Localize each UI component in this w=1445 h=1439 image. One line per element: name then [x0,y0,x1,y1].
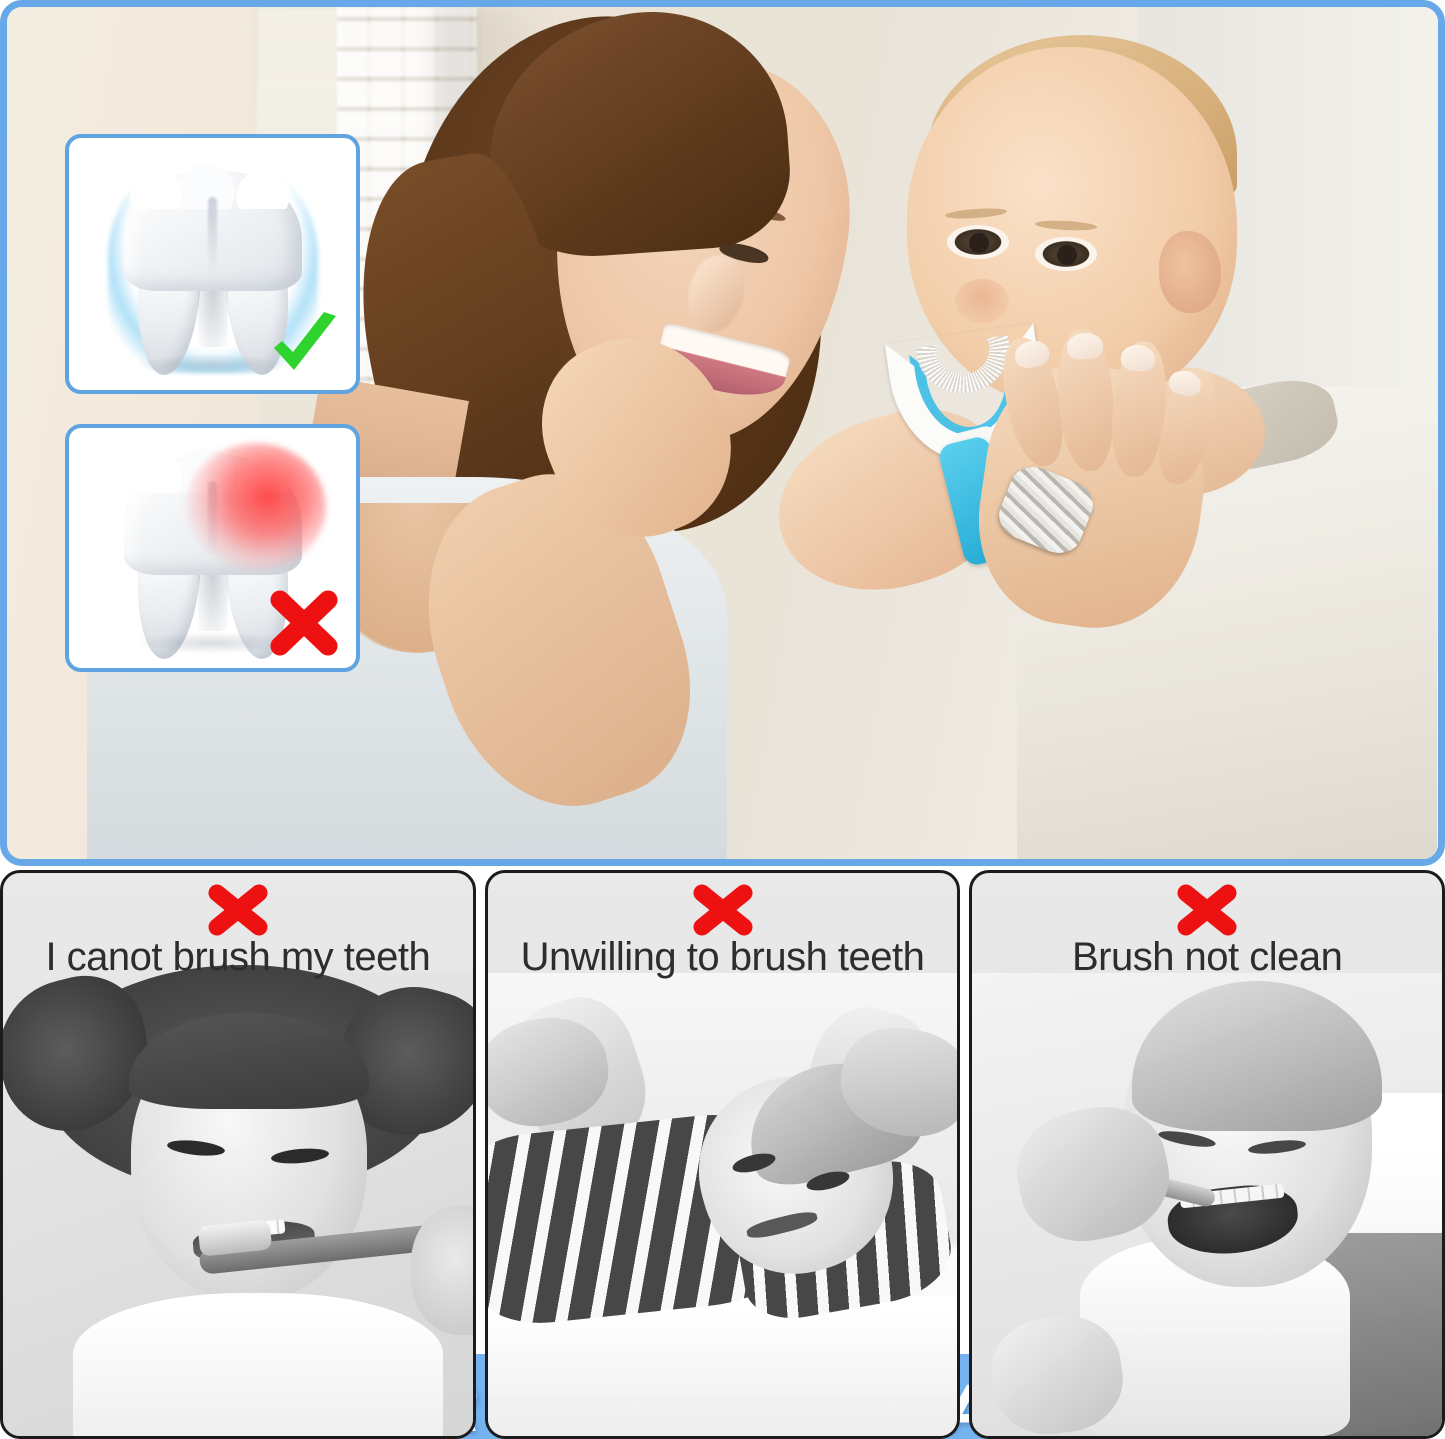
panel-caption: Brush not clean [1072,935,1342,980]
red-x-icon [688,881,758,939]
headline-banner: YOUR KIDS WILL FALL IN LOVE WITH CLEANIN… [0,668,1445,868]
product-infographic: YOUR KIDS WILL FALL IN LOVE WITH CLEANIN… [0,0,1445,1439]
panel-header: I canot brush my teeth [3,873,473,991]
unhealthy-tooth-card [65,424,360,672]
panel-photo-boy-resisting [488,973,958,1436]
baby-nose [955,279,1009,323]
tooth-groove [208,197,217,273]
panel-header: Brush not clean [972,873,1442,991]
problem-panel-unwilling: Unwilling to brush teeth [485,870,961,1439]
red-x-icon [203,881,273,939]
red-cross-icon [264,586,344,660]
girl-dress [73,1293,443,1439]
inflammation-overlay [186,443,326,571]
green-check-icon [264,308,344,382]
panel-caption: I canot brush my teeth [45,935,430,980]
panel-photo-crying-boy [972,973,1442,1436]
red-x-icon [1172,881,1242,939]
fingernail-middle [1066,332,1104,360]
tooth-crown [124,171,302,291]
panel-header: Unwilling to brush teeth [488,873,958,991]
baby-ear [1159,231,1221,313]
panel-caption: Unwilling to brush teeth [521,935,925,980]
problem-panel-cannot-brush: I canot brush my teeth [0,870,476,1439]
baby-pupil-left [969,233,989,253]
healthy-tooth-card [65,134,360,394]
problem-panel-row: I canot brush my teeth [0,870,1445,1439]
baby-pupil-right [1057,245,1077,265]
panel-photo-girl-grimacing [3,973,473,1436]
problem-panel-not-clean: Brush not clean [969,870,1445,1439]
